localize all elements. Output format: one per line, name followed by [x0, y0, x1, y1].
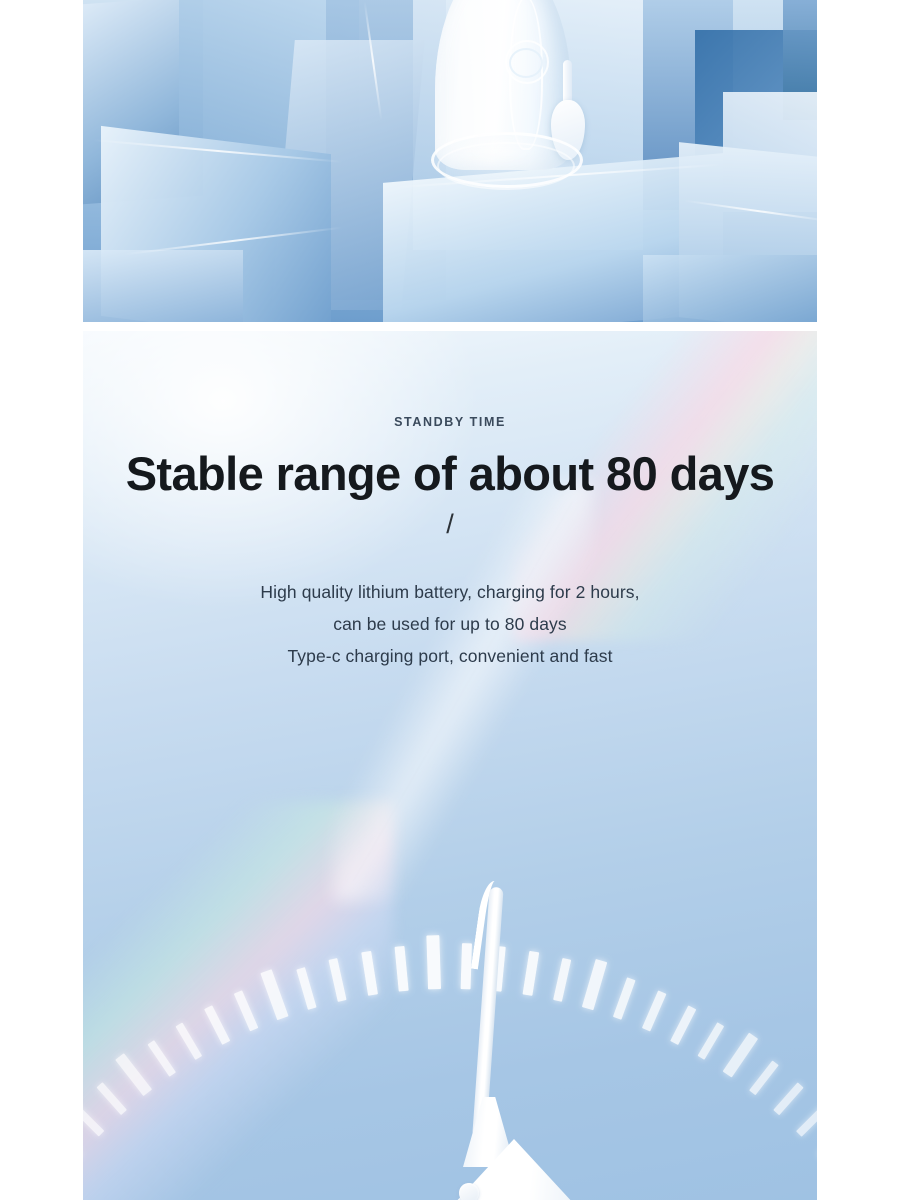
tank-ring-inner: [509, 48, 543, 78]
ice-slab: [83, 250, 243, 322]
light-streak: [333, 481, 593, 901]
gauge-tick: [796, 1106, 817, 1137]
gauge-tick: [670, 1005, 696, 1045]
standby-time-panel: STANDBY TIME Stable range of about 80 da…: [83, 331, 817, 1200]
gauge-tick: [613, 978, 636, 1020]
eyebrow-label: STANDBY TIME: [83, 415, 817, 429]
gauge-tick: [773, 1082, 803, 1115]
description-line: Type-c charging port, convenient and fas…: [83, 640, 817, 672]
nozzle-release-button[interactable]: [459, 1183, 479, 1200]
description-line: can be used for up to 80 days: [83, 608, 817, 640]
tank-base-rim-inner: [437, 142, 575, 190]
product-marketing-page: STANDBY TIME Stable range of about 80 da…: [0, 0, 900, 1200]
gauge-tick: [723, 1033, 758, 1078]
section-divider-gap: [0, 322, 900, 331]
water-tank: [413, 0, 593, 220]
description-text: High quality lithium battery, charging f…: [83, 576, 817, 672]
gauge-tick: [395, 946, 409, 992]
gauge-tick: [697, 1022, 724, 1060]
device-head: [425, 1139, 603, 1200]
slash-divider: /: [83, 509, 817, 540]
gauge-tick: [749, 1061, 778, 1096]
water-flosser-device: SOFT NORMAL PULSE: [419, 887, 609, 1200]
hero-photo: [83, 0, 817, 322]
gauge-tick: [642, 990, 666, 1031]
page-title: Stable range of about 80 days: [83, 445, 817, 503]
description-line: High quality lithium battery, charging f…: [83, 576, 817, 608]
ice-slab: [643, 255, 817, 322]
